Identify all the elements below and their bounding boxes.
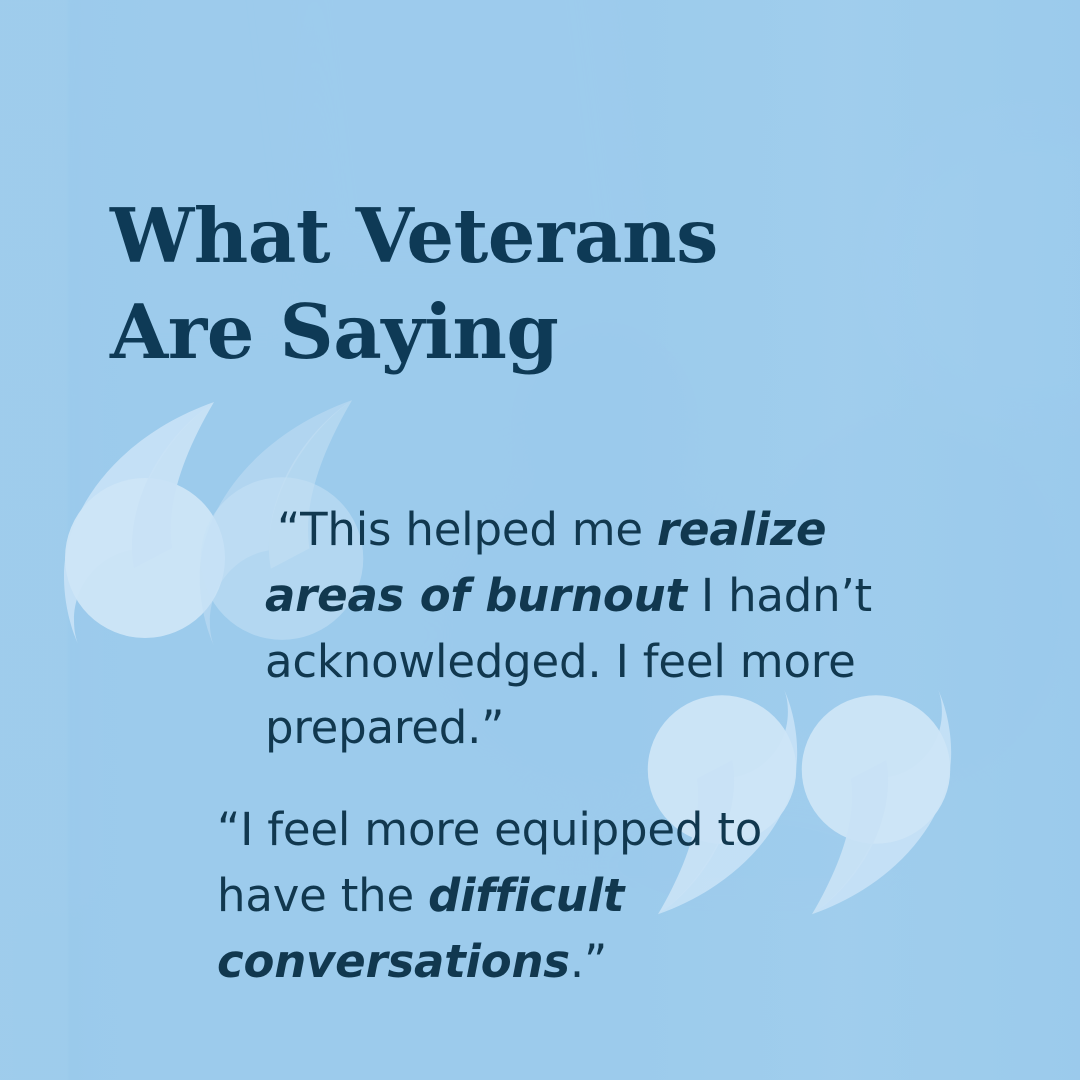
content-layer: What Veterans Are Saying “This helped me… xyxy=(0,0,1080,1080)
testimonial-quote-2: “I feel more equipped to have the diffic… xyxy=(217,797,857,995)
page-title: What Veterans Are Saying xyxy=(110,188,870,380)
poster-canvas: What Veterans Are Saying “This helped me… xyxy=(0,0,1080,1080)
testimonial-quote-1: “This helped me realize areas of burnout… xyxy=(265,497,945,761)
